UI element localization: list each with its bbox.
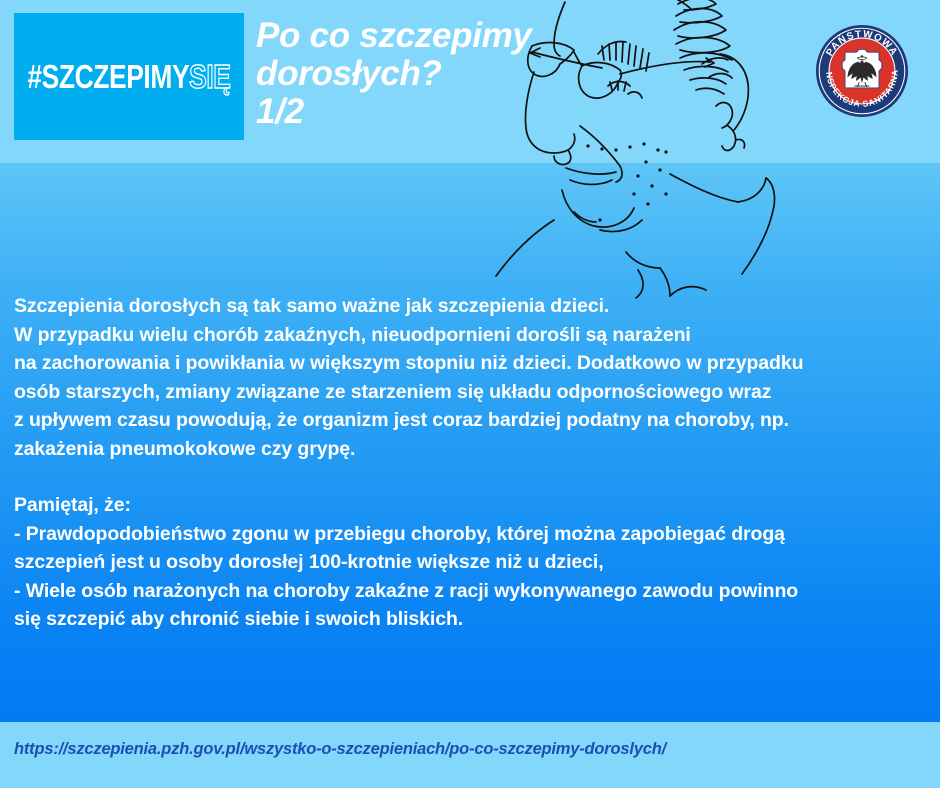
logo-hashtag-text: #SZCZEPIMY: [27, 58, 189, 95]
title-line-1: Po co szczepimy: [256, 17, 556, 55]
paragraph-2-line-2: - Prawdopodobieństwo zgonu w przebiegu c…: [14, 520, 926, 549]
source-url-link[interactable]: https://szczepienia.pzh.gov.pl/wszystko-…: [14, 740, 666, 759]
paragraph-2-line-5: się szczepić aby chronić siebie i swoich…: [14, 605, 926, 634]
paragraph-1: Szczepienia dorosłych są tak samo ważne …: [14, 292, 926, 463]
paragraph-spacer: [14, 463, 926, 491]
paragraph-2-line-3: szczepień jest u osoby dorosłej 100-krot…: [14, 548, 926, 577]
paragraph-1-line-5: z upływem czasu powodują, że organizm je…: [14, 406, 926, 435]
paragraph-1-line-2: W przypadku wielu chorób zakaźnych, nieu…: [14, 321, 926, 350]
paragraph-2: Pamiętaj, że: - Prawdopodobieństwo zgonu…: [14, 491, 926, 634]
paragraph-1-line-1: Szczepienia dorosłych są tak samo ważne …: [14, 292, 926, 321]
title-line-3: 1/2: [256, 93, 556, 131]
infographic-poster: #SZCZEPIMYSIĘ Po co szczepimy dorosłych?…: [0, 0, 940, 788]
logo-wordmark: #SZCZEPIMYSIĘ: [27, 58, 230, 96]
paragraph-1-line-6: zakażenia pneumokokowe czy grypę.: [14, 435, 926, 464]
title-line-2: dorosłych?: [256, 55, 556, 93]
logo-outline-text: SIĘ: [189, 58, 230, 95]
paragraph-1-line-3: na zachorowania i powikłania w większym …: [14, 349, 926, 378]
paragraph-2-line-1: Pamiętaj, że:: [14, 491, 926, 520]
body-text: Szczepienia dorosłych są tak samo ważne …: [14, 292, 926, 634]
paragraph-2-line-4: - Wiele osób narażonych na choroby zakaź…: [14, 577, 926, 606]
page-title: Po co szczepimy dorosłych? 1/2: [256, 17, 556, 131]
panstwowa-inspekcja-sanitarna-logo-icon: PAŃSTWOWA INSPEKCJA SANITARNA: [815, 24, 909, 118]
paragraph-1-line-4: osób starszych, zmiany związane ze starz…: [14, 378, 926, 407]
szczepimy-sie-logo: #SZCZEPIMYSIĘ: [14, 13, 244, 140]
